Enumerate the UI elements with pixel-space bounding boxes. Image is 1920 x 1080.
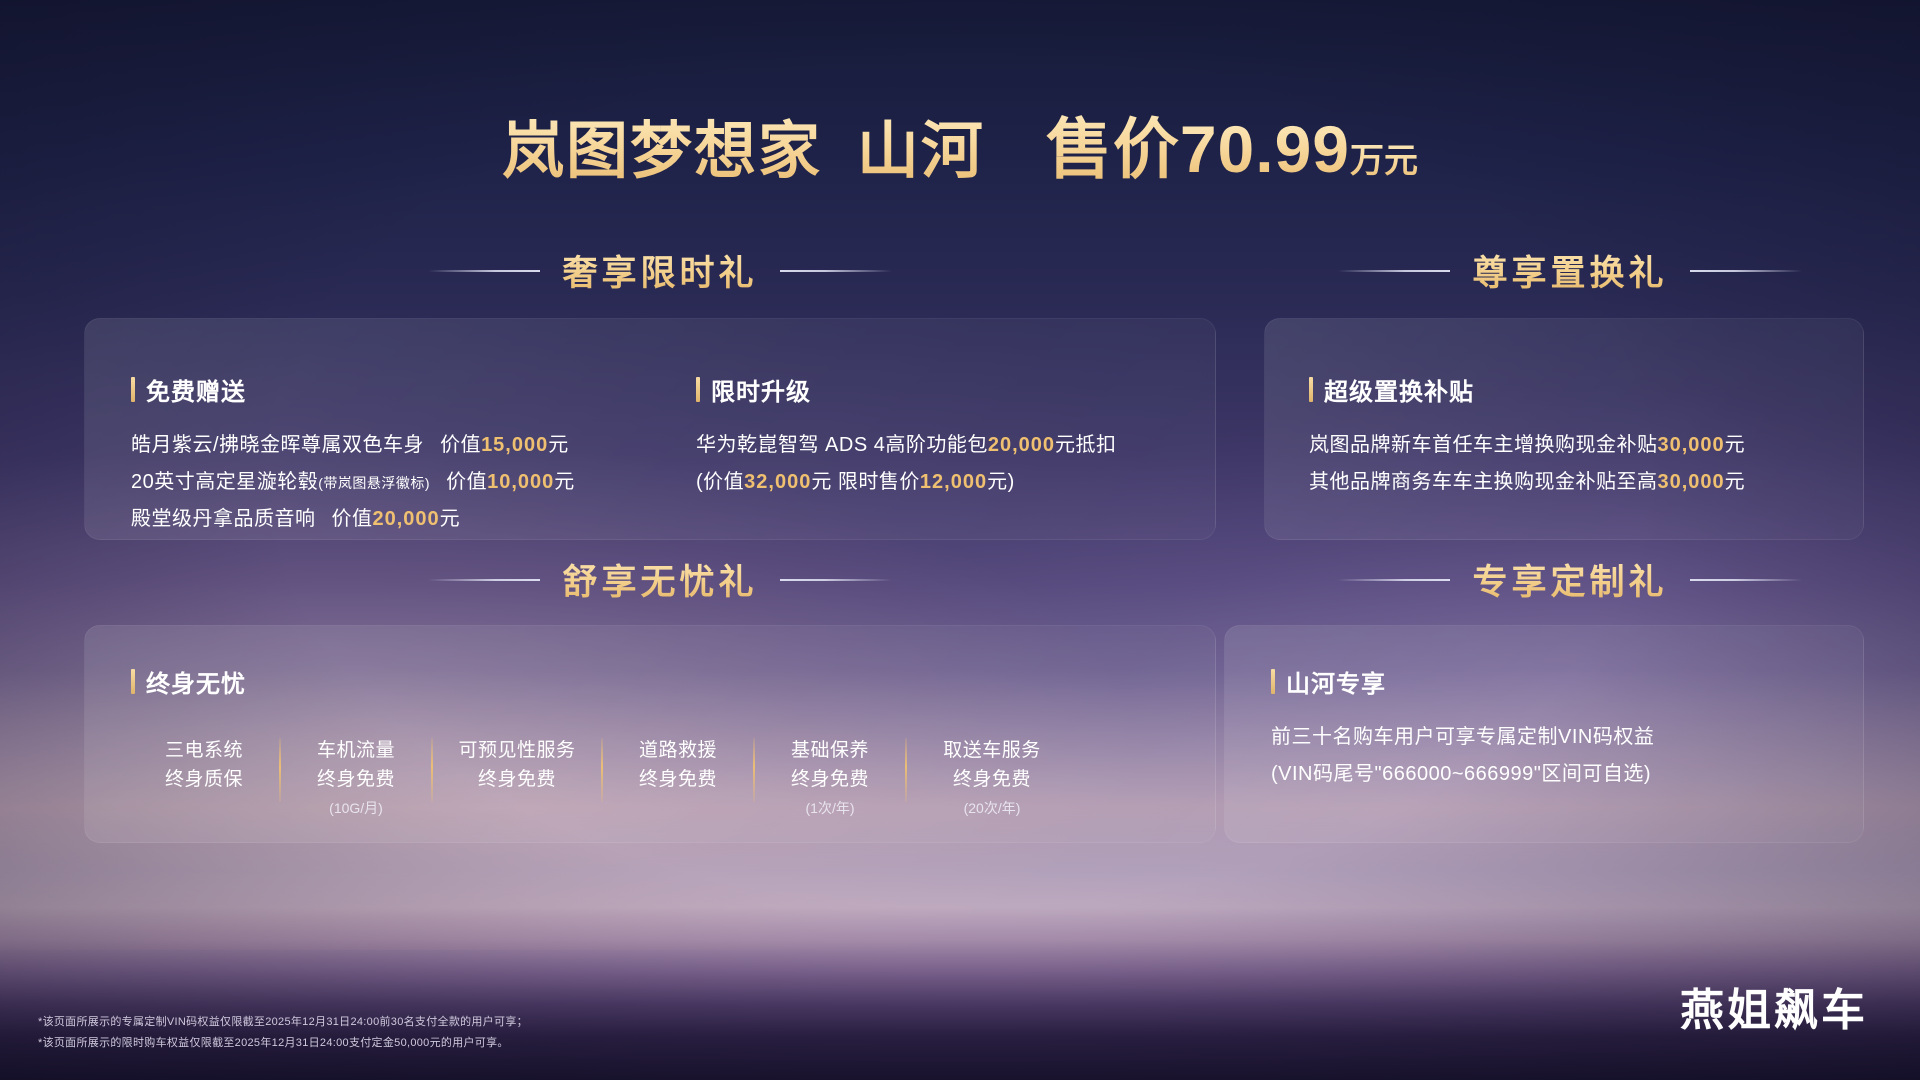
service-divider [905,738,907,802]
service-line-1: 取送车服务 [921,736,1063,765]
custom-row: (VIN码尾号"666000~666999"区间可自选) [1271,756,1654,793]
block-title: 山河专享 [1286,664,1386,699]
gift-note: (带岚图悬浮徽标) [318,475,430,491]
title-edition: 山河 [857,100,985,190]
title-price-value: 70.99 [1180,111,1350,187]
divider-line-right [1690,270,1802,272]
block-title: 终身无忧 [146,664,246,699]
section-title-care: 舒享无忧礼 [562,554,757,605]
block-title: 限时升级 [711,372,811,407]
main-title: 岚图梦想家 山河 售价70.99万元 [0,96,1920,192]
gift-text: 20英寸高定星漩轮毂 [131,471,318,493]
service-line-2: 终身免费 [769,765,891,794]
service-divider [601,738,603,802]
gift-amount: 15,000 [481,434,548,456]
section-title-luxury: 奢享限时礼 [562,245,757,296]
divider-line-right [780,579,892,581]
gift-text: 殿堂级丹拿品质音响 [131,508,316,530]
gift-row: 皓月紫云/拂晓金晖尊属双色车身价值15,000元 [131,427,575,464]
service-line-2: 终身免费 [921,765,1063,794]
tradein-amount: 30,000 [1658,471,1725,493]
block-title: 免费赠送 [146,372,246,407]
poster-root: 岚图梦想家 山河 售价70.99万元 奢享限时礼 尊享置换礼 免费赠送 皓月紫云… [0,0,1920,1080]
service-line-2: 终身质保 [143,765,265,794]
service-line-1: 可预见性服务 [447,736,587,765]
accent-bar-icon [696,377,700,402]
gift-value-label: 价值 [440,434,481,456]
upgrade-rows: 华为乾崑智驾 ADS 4高阶功能包20,000元抵扣 (价值32,000元 限时… [696,427,1117,501]
service-divider [279,738,281,802]
upgrade-row: 华为乾崑智驾 ADS 4高阶功能包20,000元抵扣 [696,427,1117,464]
gift-value-label: 价值 [446,471,487,493]
upgrade-sale-amount: 12,000 [920,471,987,493]
upgrade-text: 华为乾崑智驾 ADS 4高阶功能包 [696,434,988,456]
custom-row: 前三十名购车用户可享专属定制VIN码权益 [1271,719,1654,756]
service-line-2: 终身免费 [295,765,417,794]
block-title: 超级置换补贴 [1324,372,1474,407]
divider-line-left [428,270,540,272]
divider-line-right [780,270,892,272]
upgrade-paren-close: 元) [987,471,1015,493]
gift-unit: 元 [548,434,569,456]
section-header-tradein: 尊享置换礼 [1250,245,1890,296]
block-heading-free-gift: 免费赠送 [131,372,575,407]
service-line-1: 道路救援 [617,736,739,765]
service-divider [753,738,755,802]
footnotes: *该页面所展示的专属定制VIN码权益仅限截至2025年12月31日24:00前3… [38,1012,528,1054]
card-tradein: 超级置换补贴 岚图品牌新车首任车主增换购现金补贴30,000元 其他品牌商务车车… [1264,318,1864,540]
footnote: *该页面所展示的限时购车权益仅限截至2025年12月31日24:00支付定金50… [38,1033,528,1054]
footnote: *该页面所展示的专属定制VIN码权益仅限截至2025年12月31日24:00前3… [38,1012,528,1033]
service-item: 取送车服务 终身免费 (20次/年) [921,736,1063,820]
block-heading-shanhe-exclusive: 山河专享 [1271,664,1654,699]
gift-row: 20英寸高定星漩轮毂(带岚图悬浮徽标)价值10,000元 [131,464,575,501]
watermark: 燕姐飙车 [1680,974,1868,1038]
custom-rows: 前三十名购车用户可享专属定制VIN码权益 (VIN码尾号"666000~6669… [1271,719,1654,793]
service-item: 基础保养 终身免费 (1次/年) [769,736,891,820]
section-title-custom: 专享定制礼 [1472,554,1667,605]
block-tradein-subsidy: 超级置换补贴 岚图品牌新车首任车主增换购现金补贴30,000元 其他品牌商务车车… [1309,372,1745,501]
service-list: 三电系统 终身质保 车机流量 终身免费 (10G/月) 可预见性服务 终身免费 … [143,736,1063,820]
service-line-1: 基础保养 [769,736,891,765]
upgrade-original-amount: 32,000 [744,471,811,493]
gift-unit: 元 [440,508,461,530]
service-line-1: 三电系统 [143,736,265,765]
service-item: 道路救援 终身免费 [617,736,739,798]
upgrade-amount: 20,000 [988,434,1055,456]
service-note: (1次/年) [769,798,891,820]
service-note: (10G/月) [295,798,417,820]
gift-text: 皓月紫云/拂晓金晖尊属双色车身 [131,434,424,456]
block-lifetime-care: 终身无忧 [131,664,246,699]
tradein-row: 其他品牌商务车车主换购现金补贴至高30,000元 [1309,464,1745,501]
service-note: (20次/年) [921,798,1063,820]
divider-line-left [1338,579,1450,581]
accent-bar-icon [1309,377,1313,402]
section-header-luxury: 奢享限时礼 [330,245,990,296]
gift-unit: 元 [554,471,575,493]
block-heading-tradein-subsidy: 超级置换补贴 [1309,372,1745,407]
service-item: 三电系统 终身质保 [143,736,265,798]
divider-line-right [1690,579,1802,581]
divider-line-left [1338,270,1450,272]
tradein-unit: 元 [1725,434,1746,456]
title-price-unit: 万元 [1350,133,1418,182]
tradein-amount: 30,000 [1658,434,1725,456]
tradein-row: 岚图品牌新车首任车主增换购现金补贴30,000元 [1309,427,1745,464]
card-care: 终身无忧 三电系统 终身质保 车机流量 终身免费 (10G/月) 可预见性服务 … [84,625,1216,843]
upgrade-row: (价值32,000元 限时售价12,000元) [696,464,1117,501]
divider-line-left [428,579,540,581]
upgrade-mid: 元 限时售价 [811,471,920,493]
block-free-gift: 免费赠送 皓月紫云/拂晓金晖尊属双色车身价值15,000元 20英寸高定星漩轮毂… [131,372,575,538]
service-line-2: 终身免费 [617,765,739,794]
upgrade-suffix: 元抵扣 [1055,434,1117,456]
service-item: 可预见性服务 终身免费 [447,736,587,798]
title-price-label: 售价 [1046,96,1180,192]
gift-row: 殿堂级丹拿品质音响价值20,000元 [131,501,575,538]
service-divider [431,738,433,802]
tradein-rows: 岚图品牌新车首任车主增换购现金补贴30,000元 其他品牌商务车车主换购现金补贴… [1309,427,1745,501]
tradein-unit: 元 [1725,471,1746,493]
accent-bar-icon [131,669,135,694]
section-header-custom: 专享定制礼 [1250,554,1890,605]
block-heading-limited-upgrade: 限时升级 [696,372,1117,407]
card-custom: 山河专享 前三十名购车用户可享专属定制VIN码权益 (VIN码尾号"666000… [1224,625,1864,843]
gift-value-label: 价值 [332,508,373,530]
section-title-tradein: 尊享置换礼 [1472,245,1667,296]
tradein-text: 岚图品牌新车首任车主增换购现金补贴 [1309,434,1658,456]
gift-rows: 皓月紫云/拂晓金晖尊属双色车身价值15,000元 20英寸高定星漩轮毂(带岚图悬… [131,427,575,538]
card-luxury: 免费赠送 皓月紫云/拂晓金晖尊属双色车身价值15,000元 20英寸高定星漩轮毂… [84,318,1216,540]
service-item: 车机流量 终身免费 (10G/月) [295,736,417,820]
service-line-2: 终身免费 [447,765,587,794]
service-line-1: 车机流量 [295,736,417,765]
gift-amount: 20,000 [373,508,440,530]
block-shanhe-exclusive: 山河专享 前三十名购车用户可享专属定制VIN码权益 (VIN码尾号"666000… [1271,664,1654,793]
title-brand: 岚图梦想家 [502,100,822,190]
upgrade-paren-open: (价值 [696,471,744,493]
block-heading-lifetime-care: 终身无忧 [131,664,246,699]
section-header-care: 舒享无忧礼 [330,554,990,605]
accent-bar-icon [1271,669,1275,694]
gift-amount: 10,000 [487,471,554,493]
block-limited-upgrade: 限时升级 华为乾崑智驾 ADS 4高阶功能包20,000元抵扣 (价值32,00… [696,372,1117,501]
accent-bar-icon [131,377,135,402]
tradein-text: 其他品牌商务车车主换购现金补贴至高 [1309,471,1658,493]
